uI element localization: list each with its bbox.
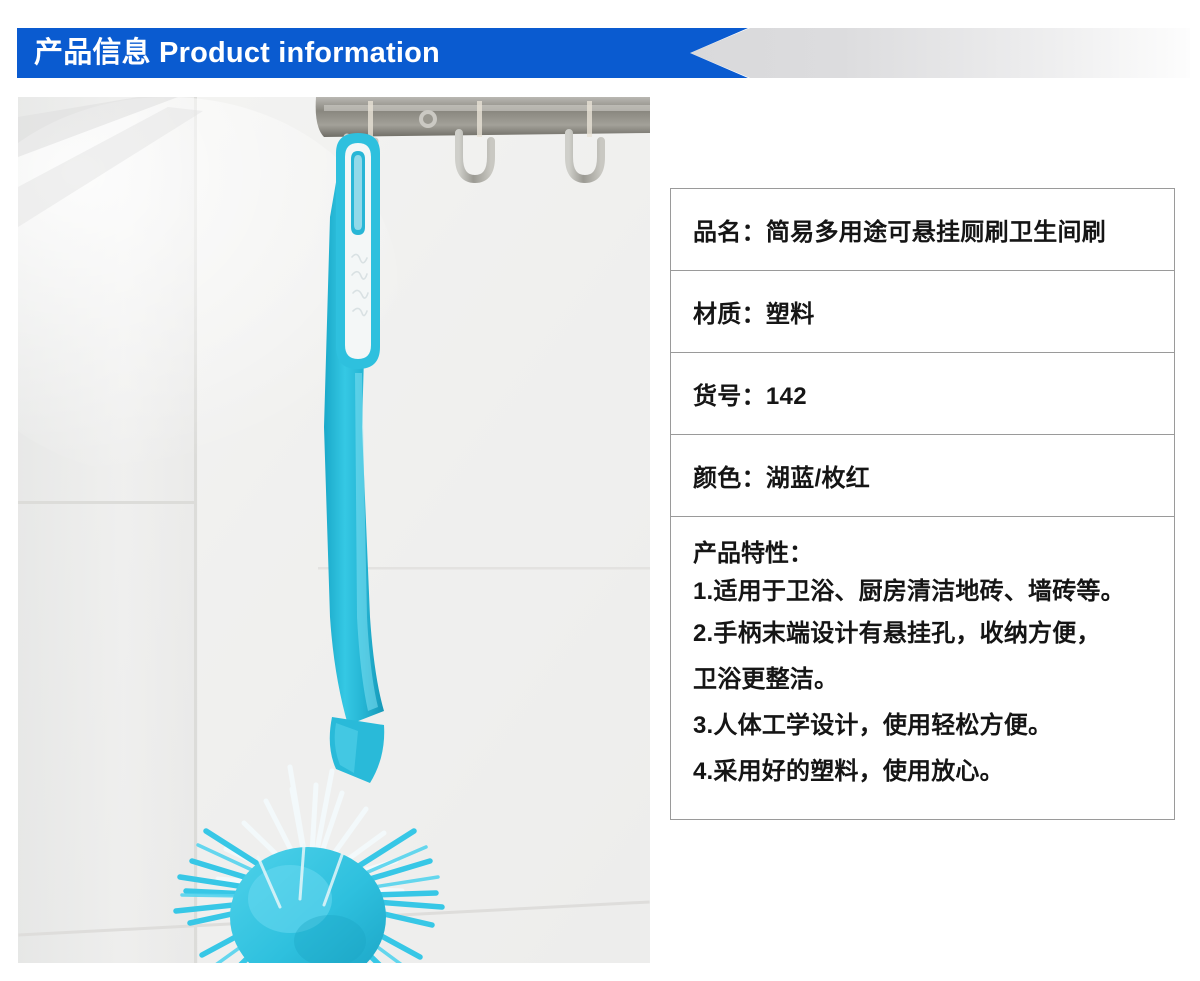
product-spec-table: 品名：简易多用途可悬挂厕刷卫生间刷 材质：塑料 货号：142 颜色：湖蓝/枚红 … <box>670 188 1175 820</box>
product-features-section: 产品特性： 1.适用于卫浴、厨房清洁地砖、墙砖等。 2.手柄末端设计有悬挂孔，收… <box>671 517 1174 820</box>
table-row: 材质：塑料 <box>671 271 1174 353</box>
feature-item-1: 1.适用于卫浴、厨房清洁地砖、墙砖等。 <box>693 573 1156 611</box>
features-heading: 产品特性： <box>693 537 1156 571</box>
table-row: 颜色：湖蓝/枚红 <box>671 435 1174 517</box>
banner-gray-tail <box>690 28 1190 78</box>
table-row: 货号：142 <box>671 353 1174 435</box>
spec-color: 颜色：湖蓝/枚红 <box>693 458 870 493</box>
product-photo <box>18 97 650 963</box>
spec-product-name: 品名：简易多用途可悬挂厕刷卫生间刷 <box>693 212 1106 247</box>
feature-item-4: 4.采用好的塑料，使用放心。 <box>693 749 1156 795</box>
table-row: 品名：简易多用途可悬挂厕刷卫生间刷 <box>671 189 1174 271</box>
spec-item-number: 货号：142 <box>693 376 807 411</box>
product-photo-illustration <box>18 97 650 963</box>
page-title: 产品信息 Product information <box>34 28 440 78</box>
feature-item-2-cont: 卫浴更整洁。 <box>693 657 1156 703</box>
page-header-banner: 产品信息 Product information <box>0 0 1200 90</box>
feature-item-3: 3.人体工学设计，使用轻松方便。 <box>693 703 1156 749</box>
feature-item-2: 2.手柄末端设计有悬挂孔，收纳方便， <box>693 611 1156 657</box>
spec-material: 材质：塑料 <box>693 294 815 329</box>
